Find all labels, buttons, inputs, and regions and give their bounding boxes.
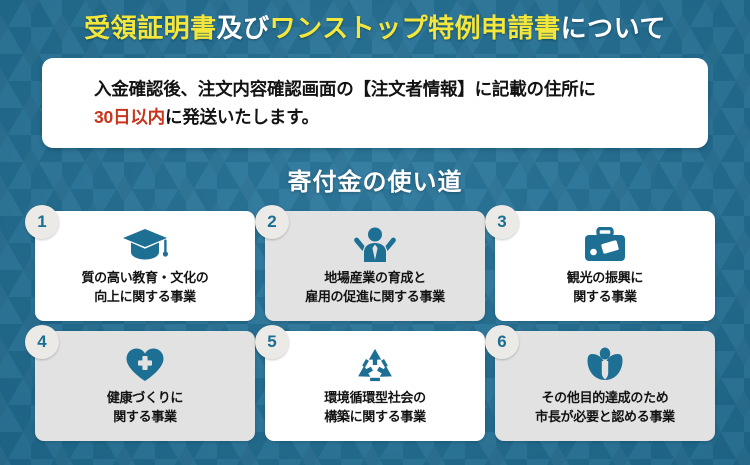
card-label-line-2: 向上に関する事業 [81,288,208,307]
person-raising-arms-icon [353,226,397,264]
card-number-badge: 4 [25,325,59,359]
suitcase-icon [583,226,627,264]
card-label-line-1: 観光の振興に [567,269,643,288]
banner-content: 受領証明書及びワンストップ特例申請書について 入金確認後、注文内容確認画面の【注… [0,0,750,465]
donation-usage-grid: 1 質の高い教育・文化の 向上に関する事業 2 [35,211,715,441]
section-heading-donation-usage: 寄付金の使い道 [0,162,750,197]
shipping-note-box: 入金確認後、注文内容確認画面の【注文者情報】に記載の住所に 30日以内に発送いた… [42,58,708,148]
card-label-line-2: 雇用の促進に関する事業 [305,288,445,307]
title-part-white-2: について [561,13,666,43]
usage-card-2[interactable]: 2 地場産業の育成と 雇用の促進に関する事業 [265,211,485,321]
card-label: 健康づくりに 関する事業 [107,389,183,427]
card-number-badge: 6 [485,325,519,359]
title-part-highlight-2: ワンストップ特例申請書 [270,13,561,43]
card-label: 質の高い教育・文化の 向上に関する事業 [81,269,208,307]
card-label-line-2: 構築に関する事業 [324,408,426,427]
usage-card-6[interactable]: 6 その他目的達成のため 市長が必要と認める事業 [495,331,715,441]
card-label: 観光の振興に 関する事業 [567,269,643,307]
card-label-line-1: 健康づくりに [107,389,183,408]
card-label-line-1: 環境循環型社会の [324,389,426,408]
card-number-badge: 3 [485,205,519,239]
page-title: 受領証明書及びワンストップ特例申請書について [0,12,750,45]
title-part-white-1: 及び [217,13,270,43]
usage-card-5[interactable]: 5 環境循環型社会の 構築に関する事業 [265,331,485,441]
promo-banner: 受領証明書及びワンストップ特例申請書について 入金確認後、注文内容確認画面の【注… [0,0,750,465]
card-number-badge: 2 [255,205,289,239]
card-label-line-2: 関する事業 [567,288,643,307]
card-number-badge: 5 [255,325,289,359]
note-line-2: 30日以内に発送いたします。 [94,103,708,131]
title-part-highlight-1: 受領証明書 [84,13,217,43]
sprout-person-icon [586,346,624,384]
note-line-2-rest: に発送いたします。 [165,107,319,127]
card-label: 環境循環型社会の 構築に関する事業 [324,389,426,427]
card-label-line-1: 地場産業の育成と [305,269,445,288]
usage-card-1[interactable]: 1 質の高い教育・文化の 向上に関する事業 [35,211,255,321]
card-label-line-1: その他目的達成のため [535,389,675,408]
card-label: 地場産業の育成と 雇用の促進に関する事業 [305,269,445,307]
usage-card-3[interactable]: 3 観光の振興に 関する事業 [495,211,715,321]
note-line-1: 入金確認後、注文内容確認画面の【注文者情報】に記載の住所に [94,75,708,103]
usage-card-4[interactable]: 4 健康づくりに 関する事業 [35,331,255,441]
card-number-badge: 1 [25,205,59,239]
card-label: その他目的達成のため 市長が必要と認める事業 [535,389,675,427]
card-label-line-2: 市長が必要と認める事業 [535,408,675,427]
card-label-line-2: 関する事業 [107,408,183,427]
heart-plus-icon [125,346,165,384]
note-deadline-highlight: 30日以内 [94,107,165,127]
card-label-line-1: 質の高い教育・文化の [81,269,208,288]
graduation-cap-icon [122,226,168,264]
recycle-icon [355,346,395,384]
